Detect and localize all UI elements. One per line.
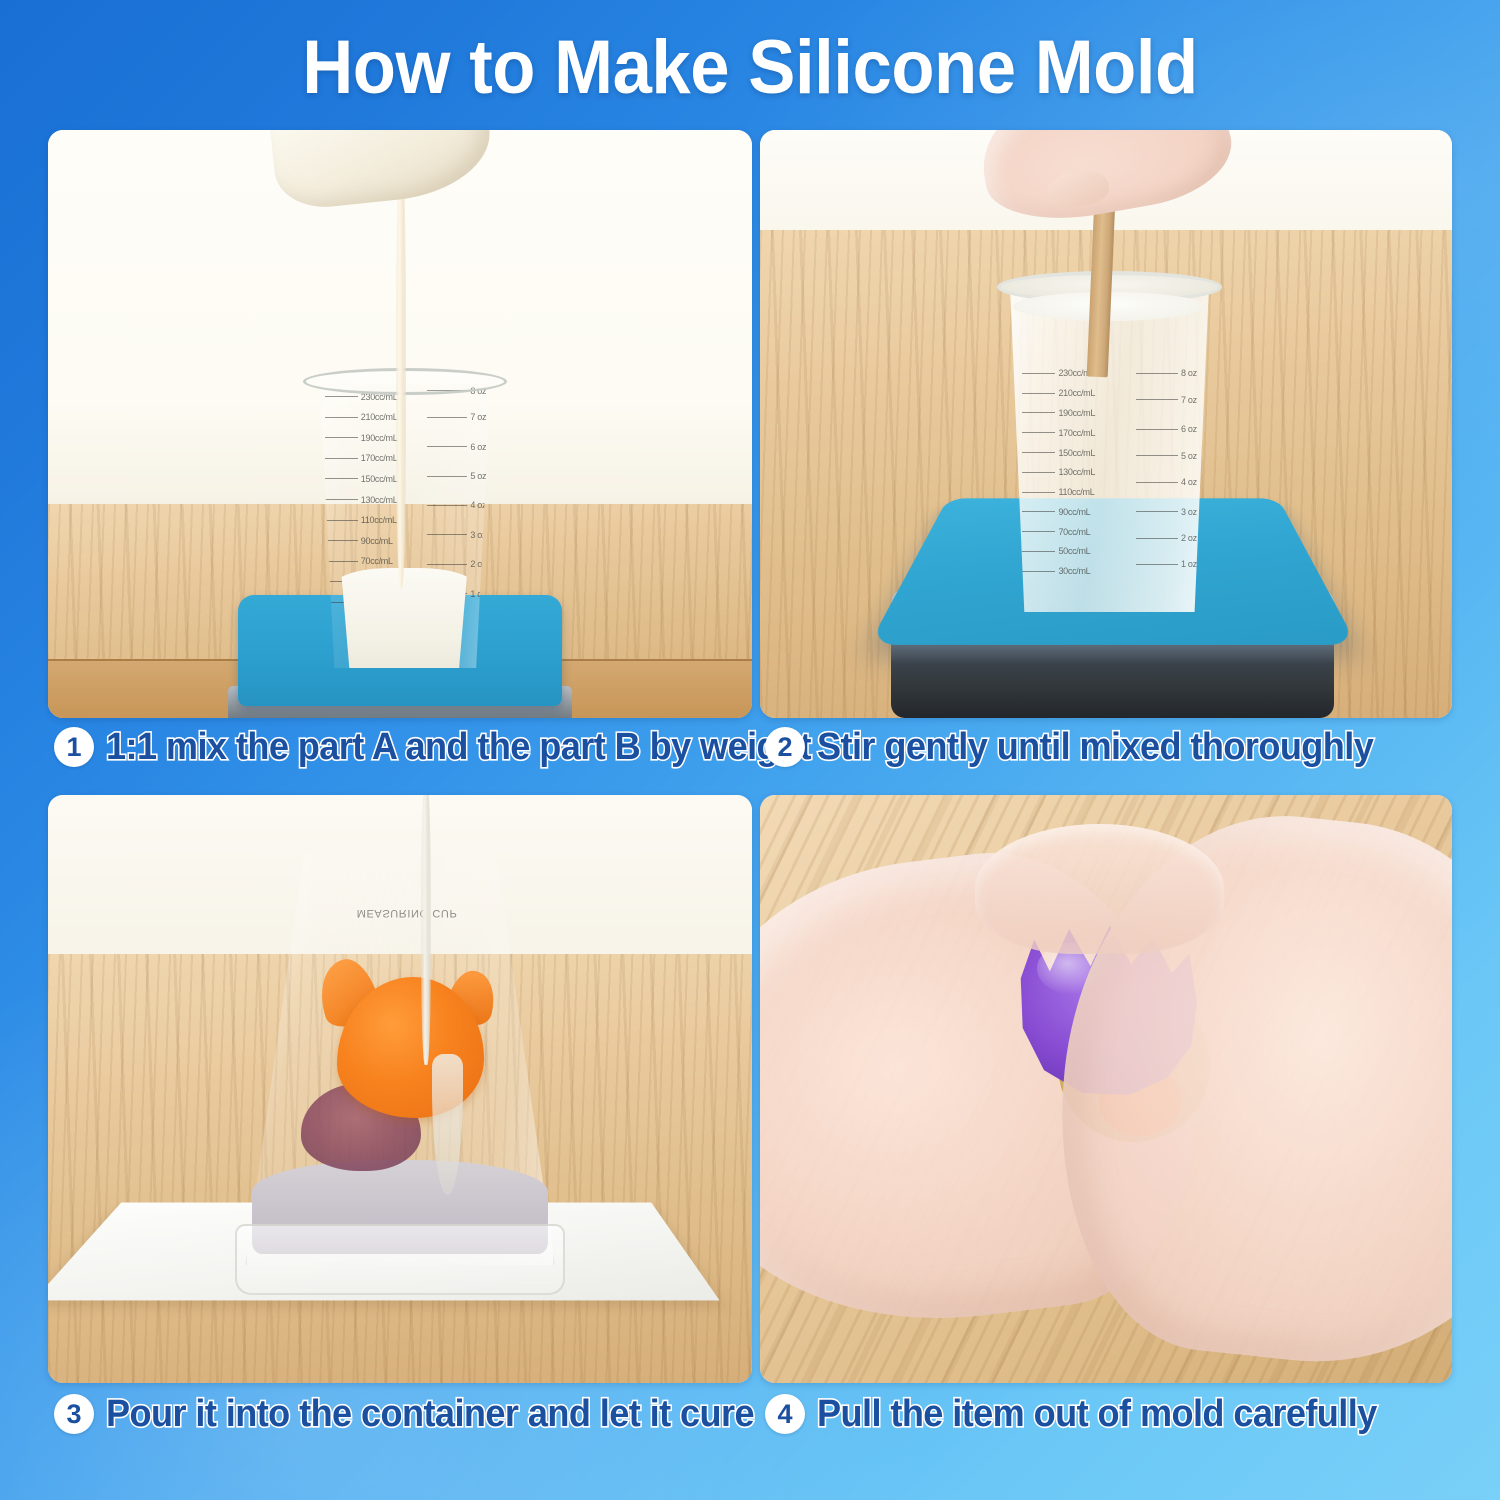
grad-label: 110cc/mL xyxy=(361,515,397,525)
grad-label-oz: 2 oz xyxy=(1181,533,1197,543)
step-image-4 xyxy=(760,795,1452,1383)
infographic-root: How to Make Silicone Mold 30cc/mL 50cc/m… xyxy=(0,0,1500,1500)
step-caption-text: Stir gently until mixed thoroughly xyxy=(817,726,1373,768)
step-number-badge: 2 xyxy=(765,727,805,767)
grad-label: 90cc/mL xyxy=(1058,507,1090,517)
scene-mix-parts: 30cc/mL 50cc/mL 70cc/mL 90cc/mL 110cc/mL… xyxy=(48,130,752,718)
silicone-liquid-in-cup xyxy=(334,568,475,668)
grad-label: 190cc/mL xyxy=(361,433,398,443)
grad-label: 50cc/mL xyxy=(1058,546,1090,556)
step-caption-3: 3 Pour it into the container and let it … xyxy=(54,1393,788,1435)
grad-label: 110cc/mL xyxy=(1058,487,1094,497)
grad-label: 30cc/mL xyxy=(1058,566,1090,576)
grad-label-oz: 8 oz xyxy=(1181,368,1197,378)
step-number-badge: 1 xyxy=(54,727,94,767)
grad-label-oz: 7 oz xyxy=(1181,395,1197,405)
pouring-stream xyxy=(396,154,407,589)
step-caption-2: 2 Stir gently until mixed thoroughly xyxy=(765,726,1403,768)
grad-label: 150cc/mL xyxy=(1058,448,1095,458)
grad-label-oz: 1 oz xyxy=(1181,559,1197,569)
step-image-1: 30cc/mL 50cc/mL 70cc/mL 90cc/mL 110cc/mL… xyxy=(48,130,752,718)
scene-demold-item xyxy=(760,795,1452,1383)
grad-label-oz: 4 oz xyxy=(1181,477,1197,487)
grad-label-oz: 6 oz xyxy=(1181,424,1197,434)
grad-label: 170cc/mL xyxy=(1058,428,1095,438)
scene-stir-mixture: 30cc/mL 50cc/mL 70cc/mL 90cc/mL 110cc/mL… xyxy=(760,130,1452,718)
grad-label-oz: 3 oz xyxy=(1181,507,1197,517)
grad-label: 210cc/mL xyxy=(361,412,398,422)
grad-label: 130cc/mL xyxy=(361,495,398,505)
grad-label: 150cc/mL xyxy=(361,474,398,484)
grad-label: 70cc/mL xyxy=(361,556,393,566)
cup-base-rim xyxy=(235,1224,566,1295)
step-caption-text: Pour it into the container and let it cu… xyxy=(106,1393,754,1435)
grad-label-oz: 5 oz xyxy=(1181,451,1197,461)
grad-label: 130cc/mL xyxy=(1058,467,1095,477)
grad-label-oz: 7 oz xyxy=(470,412,486,422)
step-image-3: MEASURING CUP xyxy=(48,795,752,1383)
grad-label-oz: 5 oz xyxy=(470,471,486,481)
step-number-badge: 3 xyxy=(54,1394,94,1434)
page-title: How to Make Silicone Mold xyxy=(53,26,1448,110)
grad-label: 210cc/mL xyxy=(1058,388,1095,398)
grad-label: 70cc/mL xyxy=(1058,527,1090,537)
glove-cuff xyxy=(975,824,1224,953)
scene-pour-into-container: MEASURING CUP xyxy=(48,795,752,1383)
step-image-2: 30cc/mL 50cc/mL 70cc/mL 90cc/mL 110cc/mL… xyxy=(760,130,1452,718)
step-caption-text: 1:1 mix the part A and the part B by wei… xyxy=(106,726,811,768)
grad-label-oz: 6 oz xyxy=(470,442,486,452)
step-number-badge: 4 xyxy=(765,1394,805,1434)
grad-label-oz: 4 oz xyxy=(470,500,486,510)
grad-label: 190cc/mL xyxy=(1058,408,1095,418)
step-caption-text: Pull the item out of mold carefully xyxy=(817,1393,1377,1435)
grad-label: 90cc/mL xyxy=(361,536,393,546)
grad-label: 170cc/mL xyxy=(361,453,398,463)
step-caption-4: 4 Pull the item out of mold carefully xyxy=(765,1393,1406,1435)
cup-print-label: MEASURING CUP xyxy=(287,907,526,919)
step-caption-1: 1 1:1 mix the part A and the part B by w… xyxy=(54,726,848,768)
pouring-stream xyxy=(421,795,431,1065)
